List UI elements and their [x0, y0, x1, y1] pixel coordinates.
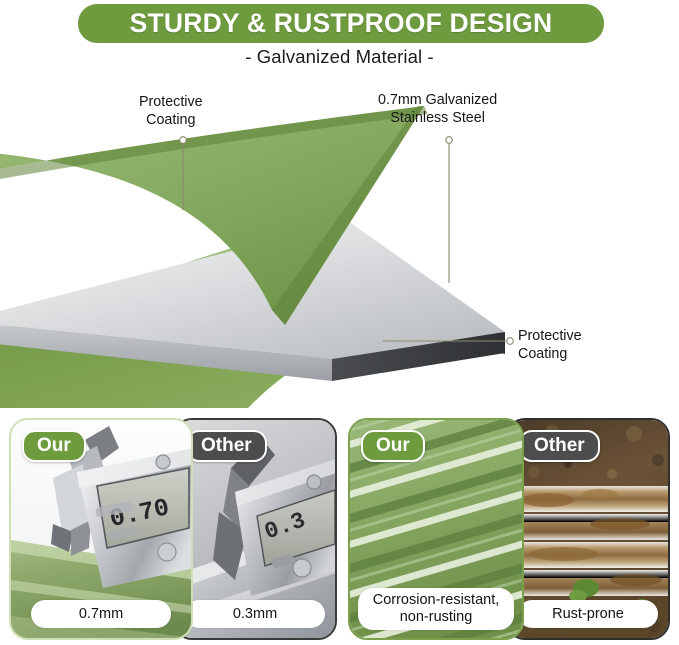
page-subtitle: - Galvanized Material - — [0, 46, 679, 68]
badge-ours: Our — [361, 430, 425, 462]
callout-line-2: Coating — [139, 112, 203, 130]
caption-ours-thickness: 0.7mm — [31, 600, 171, 628]
caption-ours-corrosion: Corrosion-resistant, non-rusting — [358, 588, 514, 630]
badge-other: Other — [186, 430, 267, 462]
comparison-card-ours-thickness[interactable]: 0.70 Our 0.7mm — [9, 418, 193, 640]
comparison-group-corrosion: Other Rust-prone — [348, 418, 670, 640]
page-title: STURDY & RUSTPROOF DESIGN — [130, 8, 553, 39]
callout-line-1: Protective — [139, 94, 203, 112]
badge-ours: Our — [22, 430, 86, 462]
comparison-card-other-corrosion[interactable]: Other Rust-prone — [506, 418, 670, 640]
header-banner: STURDY & RUSTPROOF DESIGN — [78, 4, 604, 43]
callout-protective-coating-top: Protective Coating — [139, 94, 203, 130]
comparison-card-ours-corrosion[interactable]: Our Corrosion-resistant, non-rusting — [348, 418, 524, 640]
comparison-card-other-thickness[interactable]: 0.3 Other 0.3mm — [173, 418, 337, 640]
layered-material-diagram: Protective Coating 0.7mm Galvanized Stai… — [0, 78, 679, 408]
badge-other: Other — [519, 430, 600, 462]
leader-dot-bottom-right — [507, 338, 514, 345]
caption-line-1: Corrosion-resistant, — [373, 592, 500, 609]
callout-line-2: Coating — [518, 346, 582, 364]
callout-protective-coating-bottom: Protective Coating — [518, 328, 582, 364]
leader-dot-top-left — [180, 137, 187, 144]
callout-galvanized-steel: 0.7mm Galvanized Stainless Steel — [378, 92, 497, 128]
callout-line-2: Stainless Steel — [378, 110, 497, 128]
callout-line-1: 0.7mm Galvanized — [378, 92, 497, 110]
caption-other-corrosion: Rust-prone — [518, 600, 658, 628]
comparison-group-thickness: 0.3 Other 0.3mm — [9, 418, 337, 640]
caption-line-2: non-rusting — [373, 609, 500, 626]
callout-line-1: Protective — [518, 328, 582, 346]
leader-dot-top-right — [446, 137, 453, 144]
caption-other-thickness: 0.3mm — [185, 600, 325, 628]
